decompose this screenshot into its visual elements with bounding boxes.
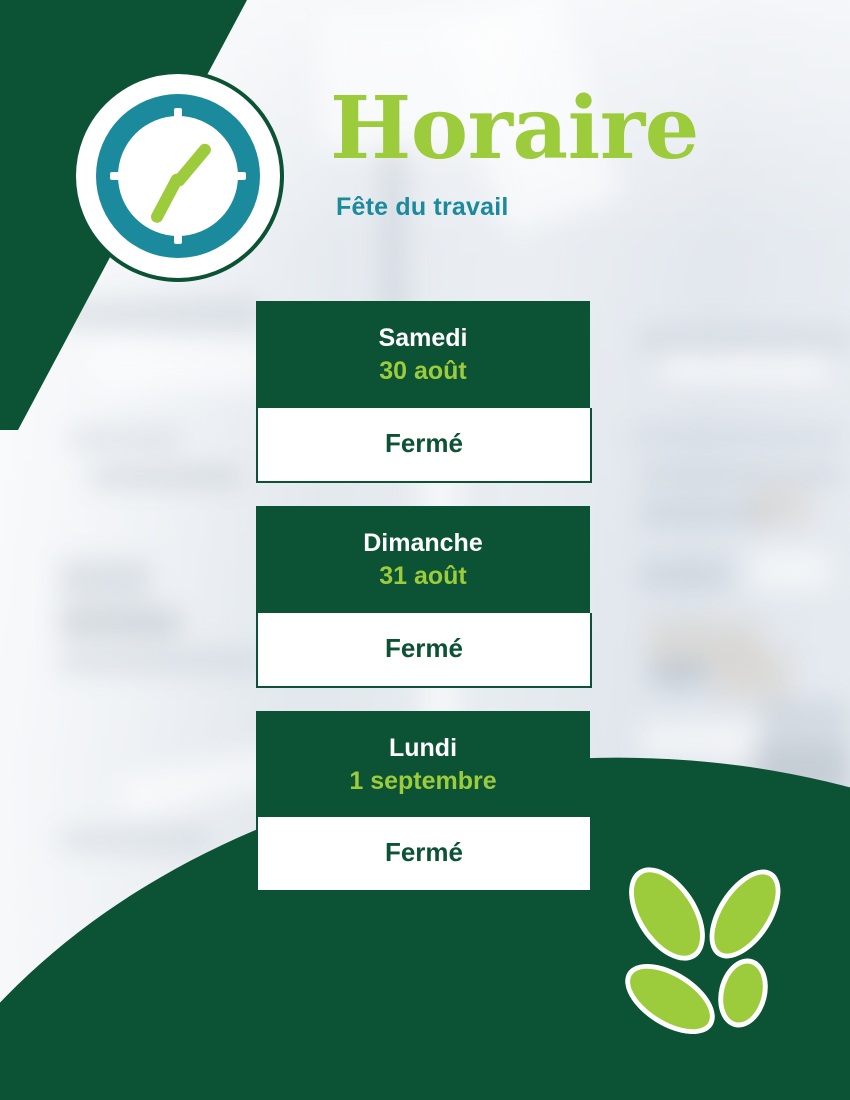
day-card-body: Fermé: [256, 817, 592, 892]
title-block: Horaire Fête du travail: [330, 88, 699, 222]
schedule-poster: Horaire Fête du travail Samedi 30 août F…: [0, 0, 850, 1100]
day-card-body: Fermé: [256, 613, 592, 688]
status-badge: Fermé: [268, 428, 580, 459]
day-card-body: Fermé: [256, 408, 592, 483]
day-name: Dimanche: [266, 528, 580, 559]
day-card-header: Samedi 30 août: [256, 301, 590, 408]
clock-tick-9: [110, 172, 126, 180]
page-subtitle: Fête du travail: [336, 193, 699, 222]
day-name: Samedi: [266, 323, 580, 354]
page-title: Horaire: [330, 88, 699, 171]
clock-icon: [72, 70, 284, 282]
day-date: 1 septembre: [266, 765, 580, 798]
day-card-header: Dimanche 31 août: [256, 506, 590, 613]
schedule-list: Samedi 30 août Fermé Dimanche 31 août Fe…: [256, 301, 592, 915]
clock-tick-6: [174, 228, 182, 244]
day-card: Dimanche 31 août Fermé: [256, 506, 592, 688]
day-card: Lundi 1 septembre Fermé: [256, 711, 592, 893]
day-name: Lundi: [266, 733, 580, 764]
clock-tick-12: [174, 108, 182, 124]
day-date: 31 août: [266, 560, 580, 593]
poster-header: Horaire Fête du travail: [0, 0, 850, 290]
status-badge: Fermé: [268, 837, 580, 868]
day-date: 30 août: [266, 355, 580, 388]
status-badge: Fermé: [268, 633, 580, 664]
day-card: Samedi 30 août Fermé: [256, 301, 592, 483]
day-card-header: Lundi 1 septembre: [256, 711, 590, 818]
clock-tick-3: [230, 172, 246, 180]
butterfly-logo-icon: [615, 862, 795, 1052]
